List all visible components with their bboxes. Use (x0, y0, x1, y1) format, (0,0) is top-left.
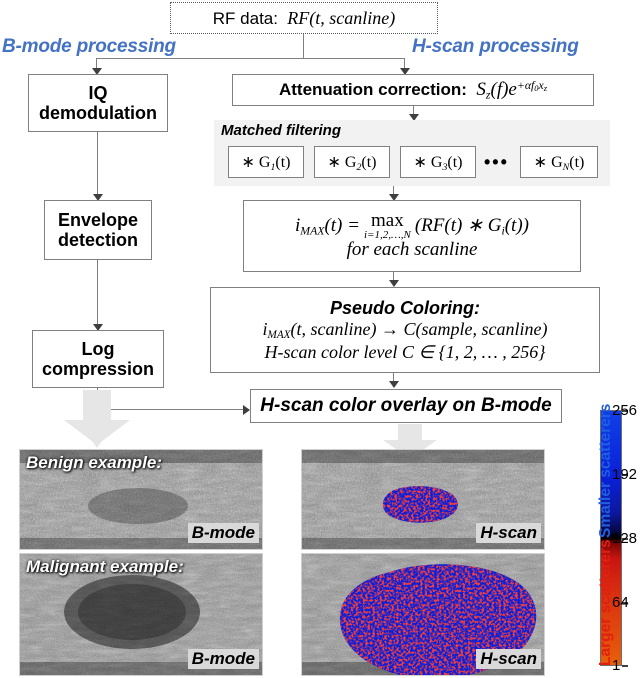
benign-hscan-caption: H-scan (476, 523, 541, 543)
overlay-top-arrowhead (389, 381, 399, 388)
envelope-detection-box: Envelope detection (44, 200, 152, 260)
colorbar-lower-label: Larger scatterers (597, 539, 615, 666)
pseudo-coloring-line2: H-scan color level C ∈ {1, 2, … , 256} (264, 342, 545, 362)
benign-bmode-caption: B-mode (188, 523, 259, 543)
rf-data-label: RF data: (213, 9, 278, 28)
log-compression-box: Log compression (32, 330, 164, 388)
rf-data-box: RF data: RF(t, scanline) (170, 2, 438, 34)
pseudo-coloring-box: Pseudo Coloring: iMAX(t, scanline) → C(s… (210, 287, 600, 373)
max-selection-box: iMAX(t) = max i=1,2,…,N (RF(t) ∗ Gi(t)) … (243, 200, 581, 272)
max-lhs: iMAX(t) = (295, 215, 360, 237)
panel-malignant-hscan[interactable]: H-scan (301, 553, 545, 676)
envelope-to-log-line (97, 260, 98, 326)
bmode-processing-header: B-mode processing (2, 36, 176, 58)
colorbar-label-256: 256 (612, 402, 637, 419)
iq-demodulation-line2: demodulation (39, 103, 157, 123)
rf-stem-line (303, 34, 304, 59)
pseudo-coloring-arrowhead (389, 280, 399, 287)
matched-filter-ellipsis: ••• (484, 152, 509, 173)
panel-malignant-bmode[interactable]: Malignant example: B-mode (19, 553, 263, 676)
matched-filtering-title: Matched filtering (221, 122, 341, 139)
iq-demodulation-box: IQ demodulation (28, 74, 168, 132)
colorbar-label-192: 192 (612, 466, 637, 483)
rf-data-text: RF data: RF(t, scanline) (213, 8, 395, 29)
colorbar-label-128: 128 (612, 530, 637, 547)
malignant-example-title: Malignant example: (26, 557, 184, 577)
envelope-detection-line1: Envelope (58, 210, 138, 230)
attenuation-correction-label: Attenuation correction: (279, 80, 467, 99)
colorbar-upper-label: Smaller scatterers (597, 404, 615, 538)
panel-benign-bmode[interactable]: Benign example: B-mode (19, 449, 263, 550)
max-for-each-scanline: for each scanline (347, 239, 478, 260)
max-operator: max i=1,2,…,N (364, 212, 411, 241)
matched-filter-g1: ∗ G1(t) (228, 146, 304, 178)
pseudo-coloring-line1: iMAX(t, scanline) → C(sample, scanline) (263, 319, 548, 342)
matched-filter-g1-label: ∗ G1(t) (241, 152, 290, 173)
hscan-overlay-label: H-scan color overlay on B-mode (260, 395, 551, 416)
matched-filter-g3: ∗ G3(t) (400, 146, 476, 178)
hscan-overlay-box: H-scan color overlay on B-mode (250, 389, 562, 423)
envelope-detection-line2: detection (58, 230, 138, 250)
log-compression-line2: compression (42, 359, 154, 379)
hscan-processing-header: H-scan processing (412, 36, 579, 58)
benign-example-title: Benign example: (26, 453, 162, 473)
overlay-left-arrowhead (243, 405, 250, 415)
panel-benign-hscan[interactable]: H-scan (301, 449, 545, 550)
pseudo-coloring-title: Pseudo Coloring: (330, 298, 480, 318)
iq-demodulation-line1: IQ (39, 83, 157, 103)
matched-filter-gn-label: ∗ GN(t) (534, 152, 585, 173)
malignant-hscan-caption: H-scan (476, 649, 541, 669)
matched-filter-g2: ∗ G2(t) (314, 146, 390, 178)
attenuation-correction-text: Attenuation correction: Sz(f)e+αf0xz (279, 79, 547, 101)
attenuation-correction-box: Attenuation correction: Sz(f)e+αf0xz (232, 74, 594, 106)
matched-filter-g2-label: ∗ G2(t) (327, 152, 376, 173)
max-rhs: (RF(t) ∗ Gi(t)) (415, 215, 529, 237)
matched-filter-gn: ∗ GN(t) (520, 146, 598, 178)
matched-filter-g3-label: ∗ G3(t) (413, 152, 462, 173)
rf-split-line (96, 58, 405, 59)
colorbar-tick-1 (622, 665, 628, 667)
log-compression-line1: Log (42, 339, 154, 359)
iq-to-envelope-line (97, 132, 98, 196)
bmode-result-block-arrow-tip (62, 424, 132, 450)
malignant-bmode-caption: B-mode (188, 649, 259, 669)
